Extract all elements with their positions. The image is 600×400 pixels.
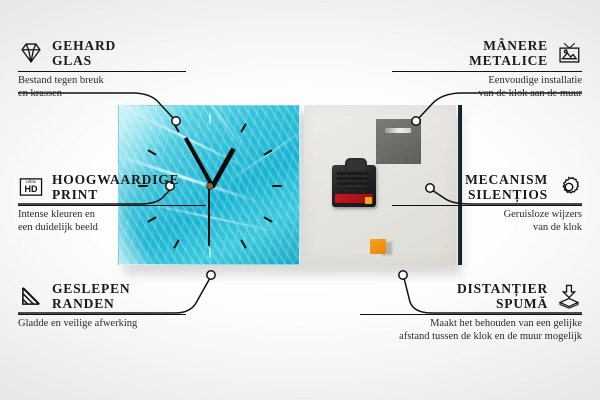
feature-title: DISTANȚIER [457,281,548,296]
feature-desc-line1: Intense kleuren en [18,209,218,222]
battery-polarity-marker [365,197,372,204]
title-rule [392,71,582,72]
mechanism-hanger-loop [345,158,367,170]
title-rule [392,205,582,206]
feature-title: HOOGWAARDIGE [52,172,179,187]
title-rule [18,205,206,206]
feature-desc-line2: afstand tussen de klok en de muur mogeli… [360,331,582,344]
feature-title-2: RANDEN [52,296,130,311]
feature-desc-line2: een duidelijk beeld [18,222,218,235]
feature-mecanism-silentios: MECANISM SILENȚIOS Geruisloze wijzers va… [392,172,582,234]
mechanism-vents [337,171,367,187]
feature-desc: Intense kleuren en een duidelijk beeld [18,209,218,234]
feature-title-2: METALICE [469,53,548,68]
picture-frame-hanger-icon [556,40,582,66]
title-rule [18,71,186,72]
feature-distantier-spuma: DISTANȚIER SPUMĂ Maakt het behouden van … [360,281,582,343]
feature-desc: Gladde en veilige afwerking [18,318,208,331]
clock-tick [240,239,247,249]
clock-tick [147,149,157,156]
clock-tick [209,114,211,124]
feature-desc-line2: van de klok [392,222,582,235]
clock-tick [240,123,247,133]
feature-title-2: GLAS [52,53,116,68]
infographic-canvas: GEHARD GLAS Bestand tegen breuk en krass… [0,0,600,400]
clock-tick [209,248,211,258]
clock-tick [263,216,273,223]
feature-desc: Eenvoudige installatie van de klok aan d… [392,75,582,100]
feature-title: MÂNERE [469,38,548,53]
hanger-slot [385,128,411,133]
metal-hanger-plate [376,119,421,164]
foam-spacer [370,239,386,254]
feature-title-2: SPUMĂ [457,296,548,311]
clock-mechanism [332,165,376,207]
feature-manere-metalice: MÂNERE METALICE Eenvoudige installatie v… [392,38,582,100]
beveled-edge-icon [18,283,44,309]
feature-title-2: SILENȚIOS [465,187,548,202]
feature-geslepen-randen: GESLEPEN RANDEN Gladde en veilige afwerk… [18,281,208,331]
feature-desc-line2: van de klok aan de muur [392,88,582,101]
feature-desc-line2: en krassen [18,88,208,101]
press-down-pad-icon [556,283,582,309]
diamond-icon [18,40,44,66]
feature-title: GEHARD [52,38,116,53]
ultra-hd-icon: ultra HD [18,174,44,200]
feature-title: GESLEPEN [52,281,130,296]
feature-desc: Bestand tegen breuk en krassen [18,75,208,100]
feature-desc: Geruisloze wijzers van de klok [392,209,582,234]
feature-desc-line1: Eenvoudige installatie [392,75,582,88]
feature-desc-line1: Bestand tegen breuk [18,75,208,88]
feature-desc-line1: Gladde en veilige afwerking [18,318,208,331]
title-rule [18,314,186,315]
feature-gehard-glas: GEHARD GLAS Bestand tegen breuk en krass… [18,38,208,100]
ultra-hd-bottom-text: HD [25,185,38,194]
clock-tick [272,185,282,187]
feature-desc-line1: Geruisloze wijzers [392,209,582,222]
gear-icon [556,174,582,200]
feature-hoogwaardige-print: ultra HD HOOGWAARDIGE PRINT Intense kleu… [18,172,218,234]
feature-title-2: PRINT [52,187,179,202]
feature-desc-line1: Maakt het behouden van een gelijke [360,318,582,331]
feature-desc: Maakt het behouden van een gelijke afsta… [360,318,582,343]
feature-title: MECANISM [465,172,548,187]
clock-tick [173,239,180,249]
title-rule [360,314,582,315]
